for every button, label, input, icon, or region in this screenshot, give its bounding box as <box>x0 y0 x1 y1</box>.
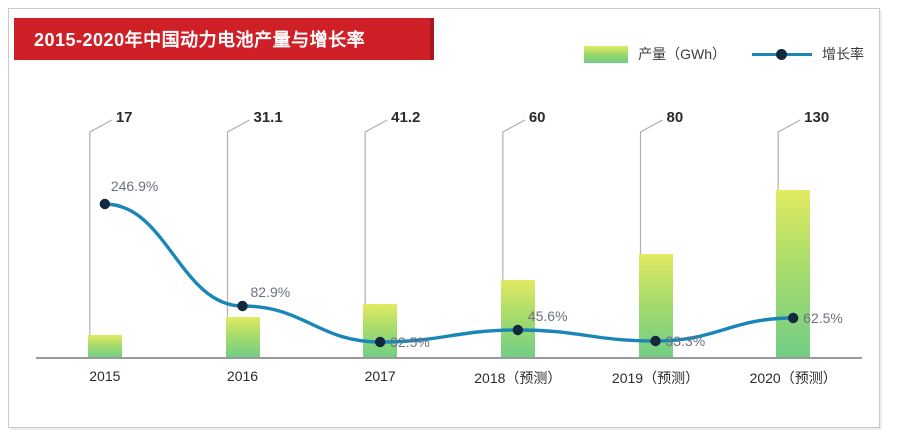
plot-area: 1731.141.26080130 246.9%82.9%32.5%45.6%3… <box>0 0 900 437</box>
legend-line-icon <box>752 48 812 60</box>
growth-line-point <box>788 313 798 323</box>
legend-swatch-icon <box>584 46 628 63</box>
chart-legend: 产量（GWh） 增长率 <box>584 44 864 64</box>
growth-line-point <box>237 301 247 311</box>
legend-item-production: 产量（GWh） <box>584 44 726 64</box>
title-banner: 2015-2020年中国动力电池产量与增长率 <box>14 18 434 60</box>
title-banner-edge <box>430 18 434 60</box>
growth-rate-label: 45.6% <box>528 308 568 324</box>
growth-line-point <box>375 337 385 347</box>
growth-rate-label: 32.5% <box>390 334 430 350</box>
legend-label-growth: 增长率 <box>822 44 864 64</box>
growth-line-path <box>105 204 793 342</box>
x-axis-label: 2015 <box>89 368 120 384</box>
chart-screenshot: 2015-2020年中国动力电池产量与增长率 产量（GWh） 增长率 1731.… <box>0 0 900 437</box>
growth-line-point <box>650 336 660 346</box>
x-axis-label: 2017 <box>365 368 396 384</box>
growth-rate-label: 33.3% <box>666 333 706 349</box>
legend-line-dot <box>776 49 787 60</box>
growth-rate-label: 246.9% <box>111 178 158 194</box>
legend-label-production: 产量（GWh） <box>638 44 726 64</box>
x-axis-label: 2019（预测） <box>612 368 699 388</box>
legend-item-growth: 增长率 <box>752 44 864 64</box>
growth-line-point <box>513 325 523 335</box>
page-title: 2015-2020年中国动力电池产量与增长率 <box>14 26 365 52</box>
x-axis-label: 2018（预测） <box>474 368 561 388</box>
growth-line-point <box>100 199 110 209</box>
growth-rate-label: 82.9% <box>251 284 291 300</box>
x-axis-label: 2020（预测） <box>750 368 837 388</box>
growth-rate-label: 62.5% <box>803 310 843 326</box>
x-axis-label: 2016 <box>227 368 258 384</box>
